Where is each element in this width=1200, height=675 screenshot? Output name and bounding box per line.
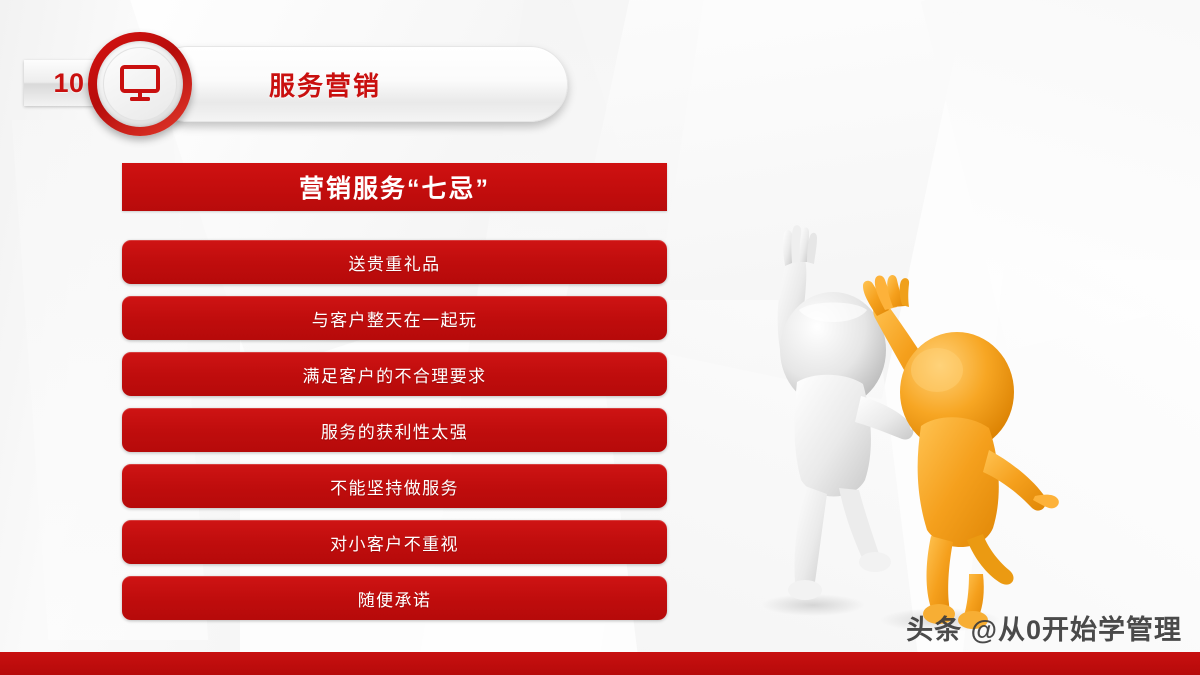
list-item-label: 随便承诺 [358, 586, 432, 611]
list-item-label: 送贵重礼品 [349, 250, 441, 275]
section-number: 10 [30, 62, 108, 104]
list-item[interactable]: 随便承诺 [122, 576, 667, 620]
taboo-list: 送贵重礼品 与客户整天在一起玩 满足客户的不合理要求 服务的获利性太强 不能坚持… [122, 240, 667, 632]
list-item-label: 不能坚持做服务 [330, 474, 459, 499]
list-item[interactable]: 对小客户不重视 [122, 520, 667, 564]
header-title-pill: 服务营销 [150, 46, 568, 122]
list-item-label: 对小客户不重视 [330, 530, 459, 555]
list-item[interactable]: 与客户整天在一起玩 [122, 296, 667, 340]
slide-header: 10 服务营销 [0, 0, 640, 150]
list-item[interactable]: 满足客户的不合理要求 [122, 352, 667, 396]
footer-bar [0, 652, 1200, 675]
monitor-icon [119, 64, 161, 104]
list-item[interactable]: 送贵重礼品 [122, 240, 667, 284]
watermark-text: 头条 @从0开始学管理 [906, 608, 1182, 647]
content-title-banner: 营销服务“七忌” [122, 163, 667, 211]
content-title: 营销服务“七忌” [299, 169, 490, 205]
badge-inner-ring [97, 41, 183, 127]
page-title: 服务营销 [269, 66, 381, 103]
badge-face [103, 47, 177, 121]
illustration-two-figures [735, 150, 1065, 650]
list-item-label: 与客户整天在一起玩 [312, 306, 478, 331]
list-item[interactable]: 服务的获利性太强 [122, 408, 667, 452]
figure-orange [863, 275, 1059, 629]
list-item-label: 满足客户的不合理要求 [303, 362, 487, 387]
list-item-label: 服务的获利性太强 [321, 418, 468, 443]
list-item[interactable]: 不能坚持做服务 [122, 464, 667, 508]
slide-canvas: 10 服务营销 营销服务“七忌” [0, 0, 1200, 675]
